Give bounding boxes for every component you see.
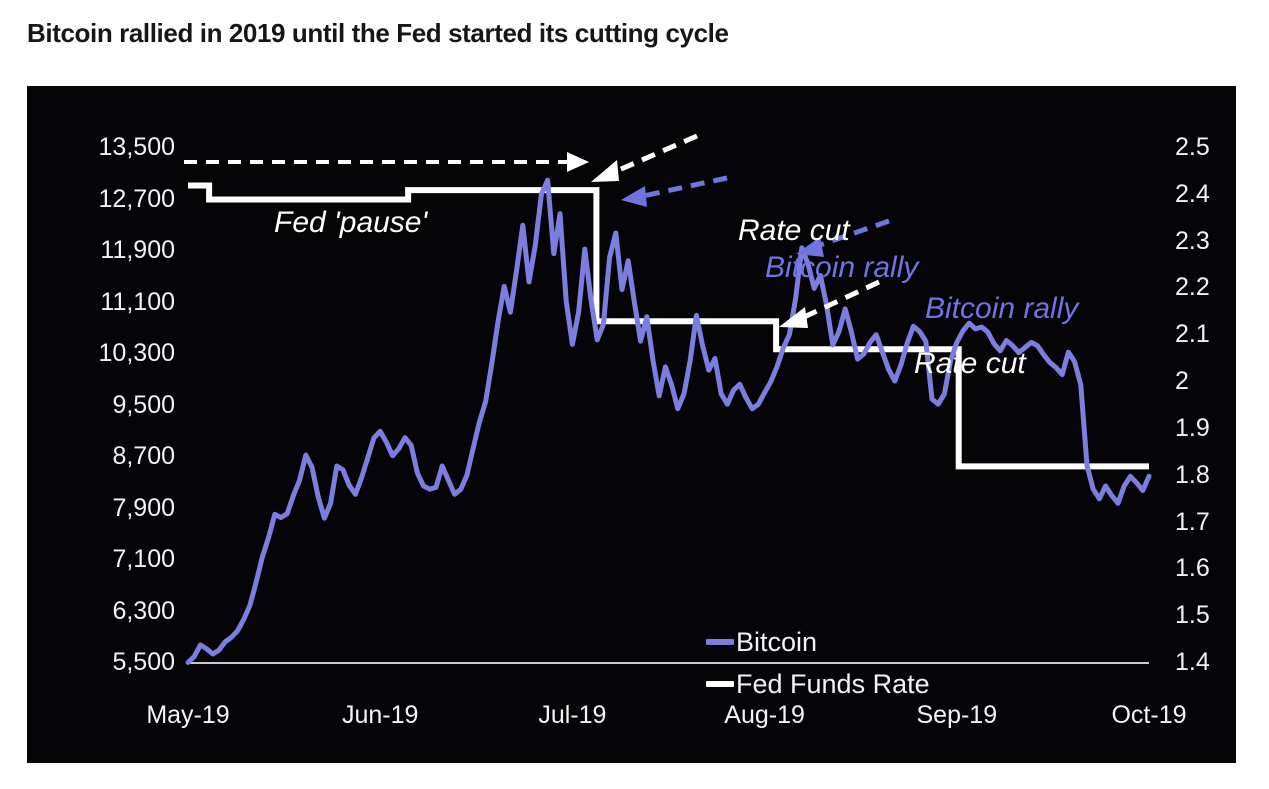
legend-swatch-icon: [706, 639, 734, 645]
legend-item-fed-funds-rate[interactable]: Fed Funds Rate: [706, 663, 930, 705]
legend-item-bitcoin[interactable]: Bitcoin: [706, 621, 930, 663]
plot-area: [27, 86, 1236, 763]
fed-pause-arrowhead-right: [567, 152, 589, 172]
legend-label: Bitcoin: [736, 627, 817, 658]
bitcoin-line: [188, 180, 1149, 662]
chart-page: Bitcoin rallied in 2019 until the Fed st…: [0, 0, 1269, 789]
legend-swatch-icon: [706, 681, 734, 687]
bitcoin-rally-1-arrow-line: [643, 178, 727, 196]
chart-legend: BitcoinFed Funds Rate: [706, 621, 930, 705]
annotation-bitcoin-rally-1: Bitcoin rally: [765, 253, 918, 283]
rate-cut-1-arrowhead: [591, 160, 619, 182]
annotation-rate-cut-1: Rate cut: [738, 216, 850, 246]
page-title: Bitcoin rallied in 2019 until the Fed st…: [27, 18, 729, 49]
rate-cut-1-arrow-line: [612, 136, 697, 173]
chart-panel: 13,50012,70011,90011,10010,3009,5008,700…: [27, 86, 1236, 763]
bitcoin-rally-1-arrowhead: [621, 186, 647, 207]
annotation-fed-pause: Fed 'pause': [274, 208, 427, 238]
annotation-rate-cut-2: Rate cut: [914, 349, 1026, 379]
annotation-bitcoin-rally-2: Bitcoin rally: [925, 294, 1078, 324]
legend-label: Fed Funds Rate: [736, 669, 930, 700]
